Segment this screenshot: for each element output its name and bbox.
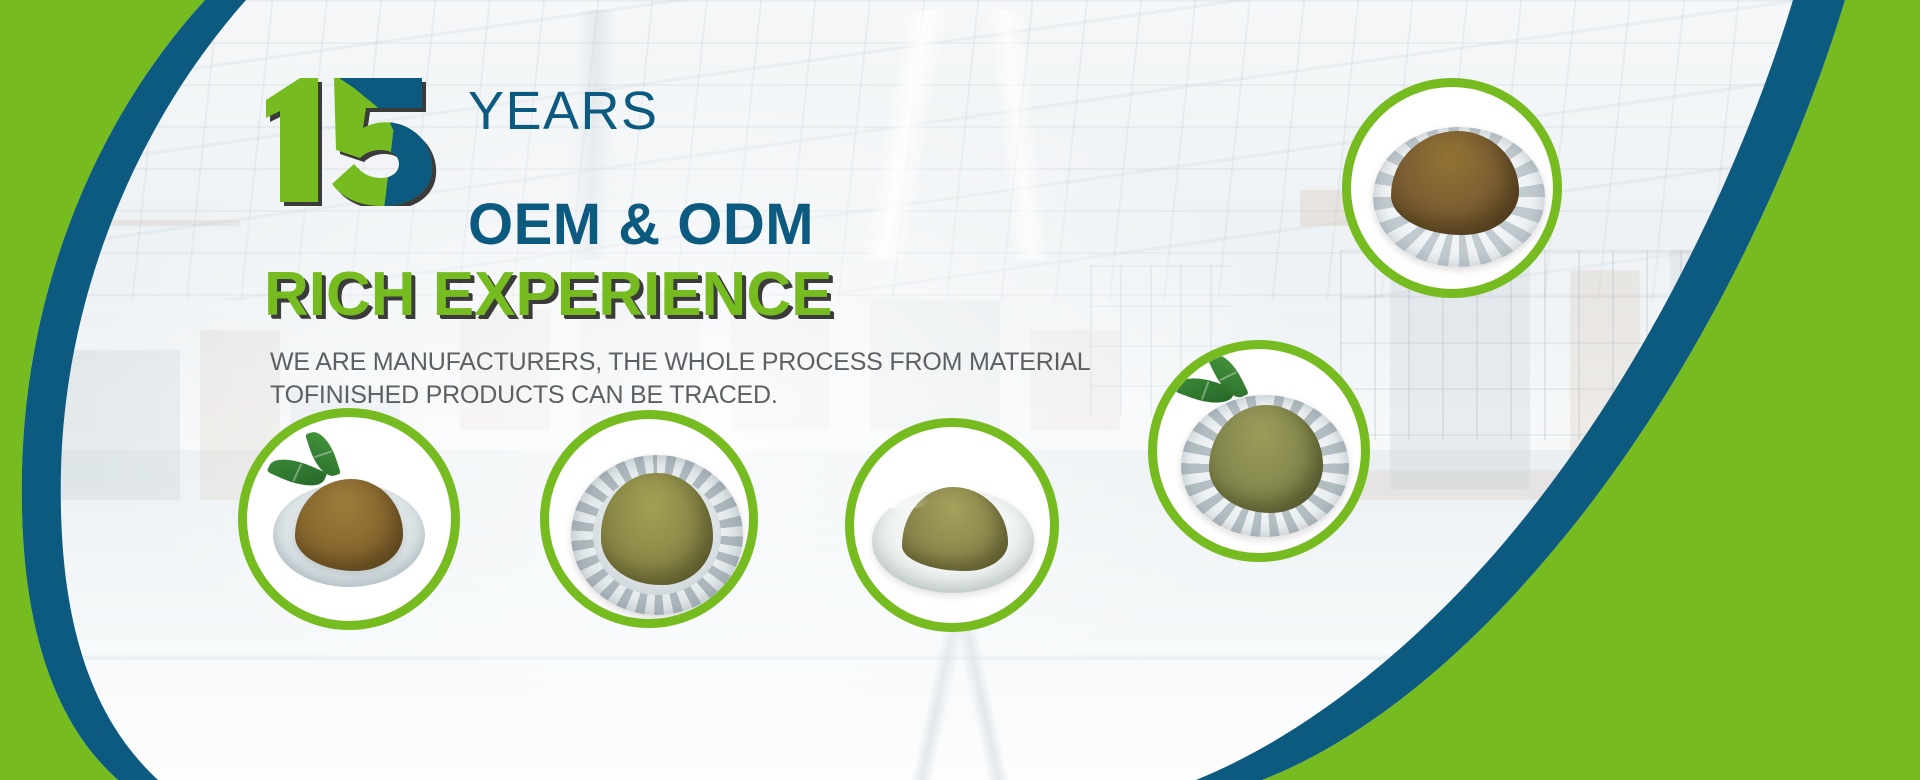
fifteen-number-svg <box>262 66 440 206</box>
product-circle-3[interactable] <box>845 418 1059 632</box>
bowl-highlight-3 <box>878 493 930 509</box>
product-image-5 <box>1351 87 1553 289</box>
product-image-3 <box>854 427 1050 623</box>
subtitle-text: WE ARE MANUFACTURERS, THE WHOLE PROCESS … <box>270 346 1090 412</box>
rich-experience-label: RICH EXPERIENCE <box>264 264 832 326</box>
subtitle-line-1: WE ARE MANUFACTURERS, THE WHOLE PROCESS … <box>270 346 1090 379</box>
years-label: YEARS <box>468 84 659 138</box>
product-image-2 <box>549 419 749 619</box>
promo-banner: YEARS OEM & ODM RICH EXPERIENCE WE ARE M… <box>0 0 1920 780</box>
product-image-4 <box>1157 349 1361 553</box>
product-circle-4[interactable] <box>1148 340 1370 562</box>
product-circle-2[interactable] <box>540 410 758 628</box>
oem-odm-label: OEM & ODM <box>468 196 814 254</box>
fifteen-number <box>262 66 440 206</box>
product-circle-1[interactable] <box>238 408 460 630</box>
headline-block: YEARS OEM & ODM RICH EXPERIENCE WE ARE M… <box>262 66 1162 206</box>
product-circle-5[interactable] <box>1342 78 1562 298</box>
product-image-1 <box>247 417 451 621</box>
headline-top-line: YEARS <box>262 66 1162 206</box>
subtitle-line-2: TOFINISHED PRODUCTS CAN BE TRACED. <box>270 379 1090 412</box>
fifteen-fill <box>262 66 440 206</box>
